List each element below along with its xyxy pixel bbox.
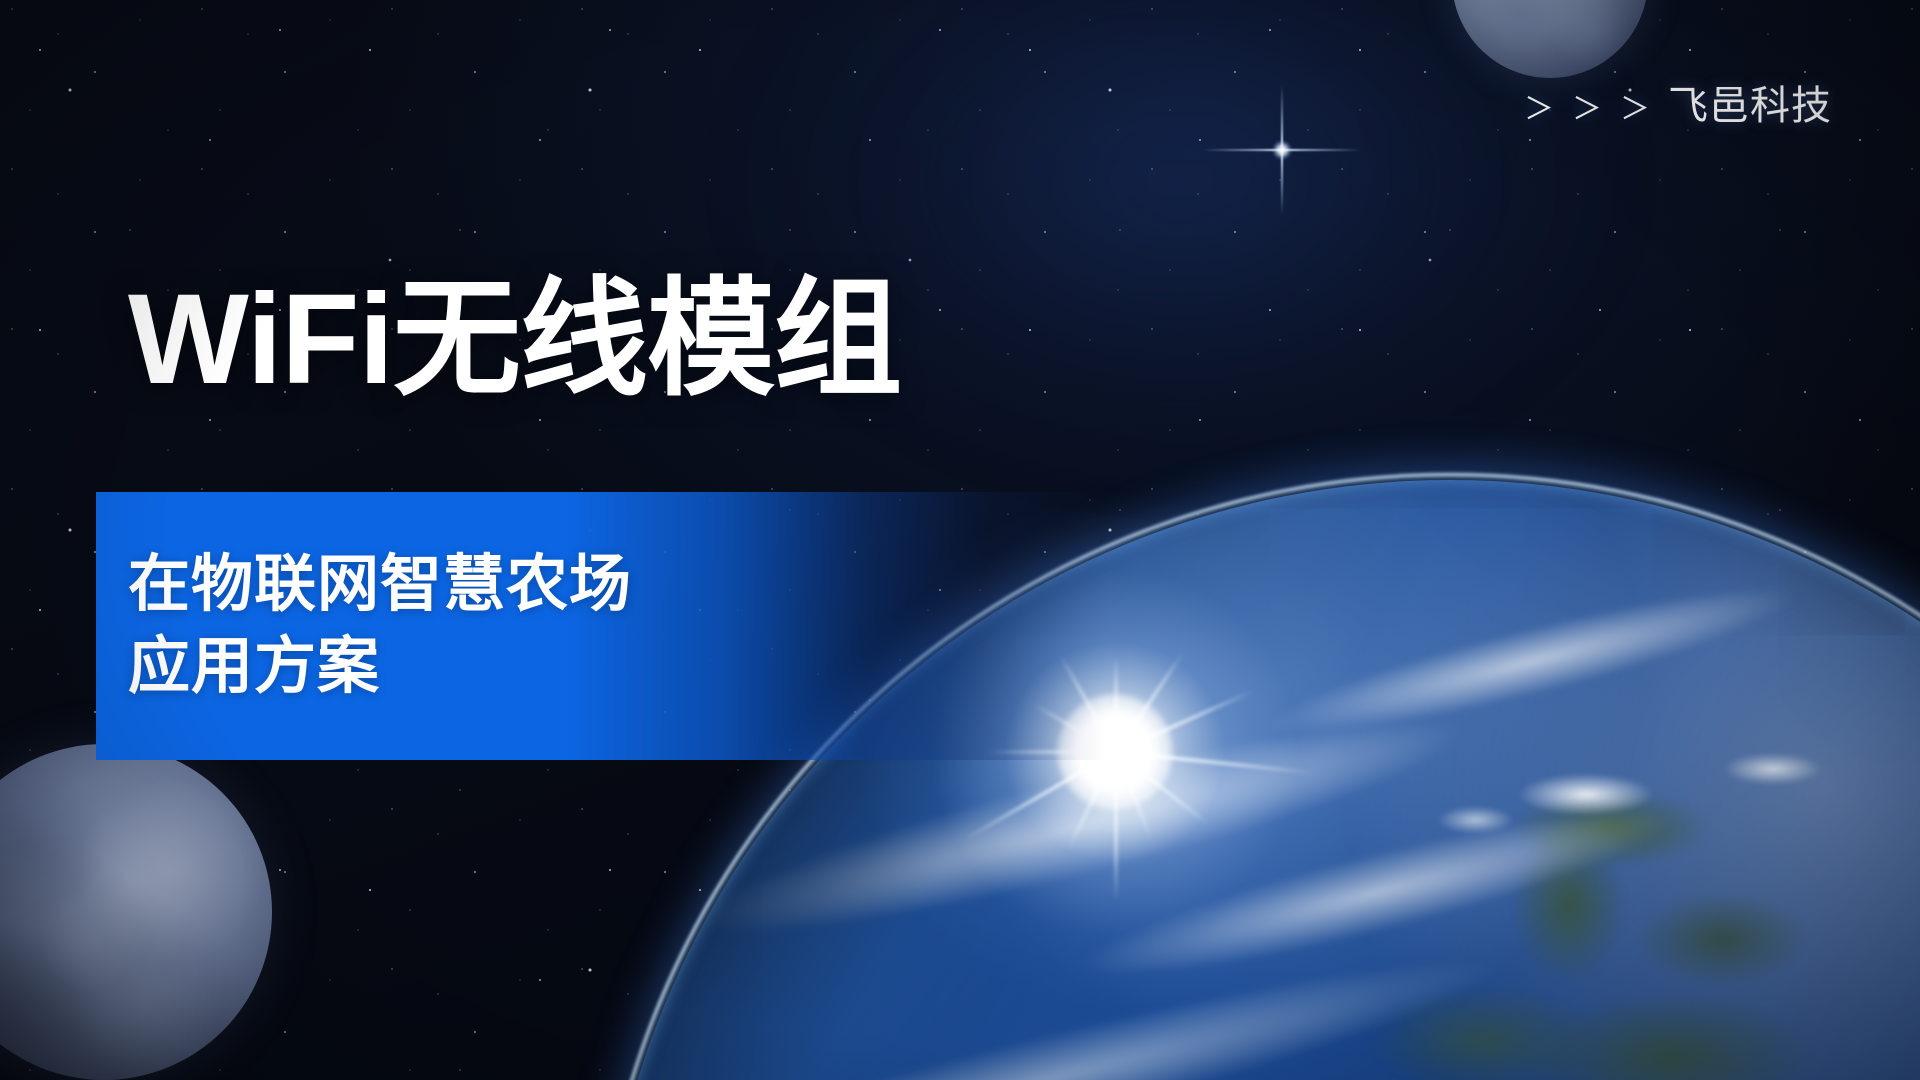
chevron-right-icon-2: ＞ xyxy=(1572,95,1602,125)
subtitle-banner: 在物联网智慧农场 应用方案 xyxy=(96,492,1106,760)
page-title: WiFi无线模组 xyxy=(128,276,901,404)
brand-tag: ＞ ＞ ＞ 飞邑科技 xyxy=(1524,86,1832,126)
poster-canvas: ＞ ＞ ＞ 飞邑科技 WiFi无线模组 在物联网智慧农场 应用方案 xyxy=(0,0,1920,1080)
chevron-right-icon-1: ＞ xyxy=(1524,95,1554,125)
subtitle-line-1: 在物联网智慧农场 xyxy=(128,544,1106,626)
subtitle-line-2: 应用方案 xyxy=(128,626,1106,708)
chevron-right-icon-3: ＞ xyxy=(1620,95,1650,125)
brand-name: 飞邑科技 xyxy=(1668,86,1832,126)
